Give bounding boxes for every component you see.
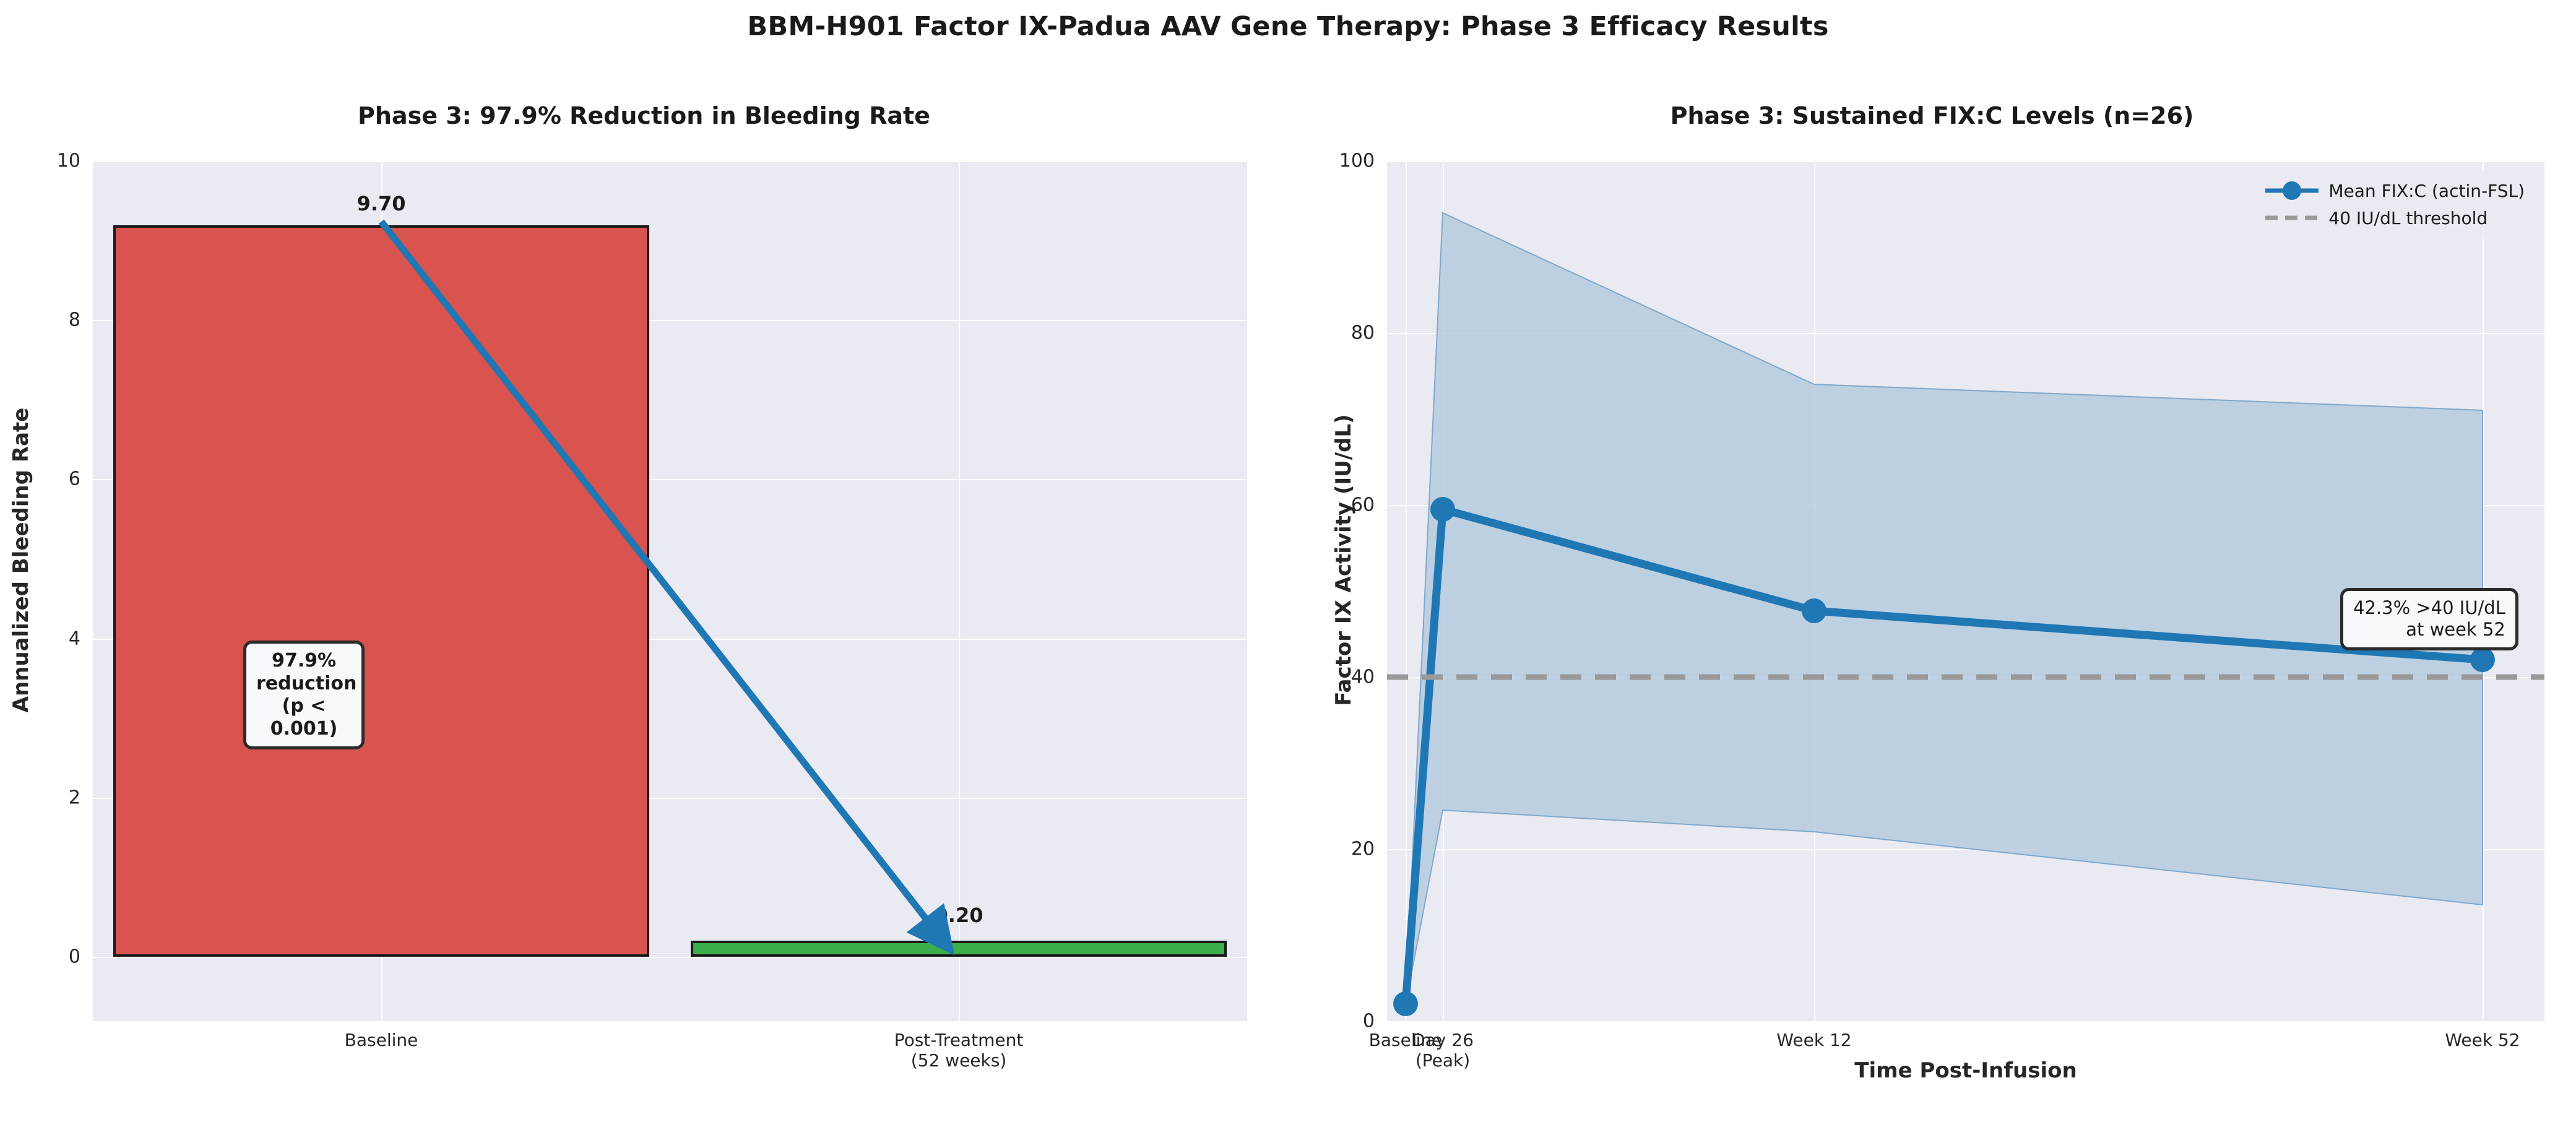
ytick-label-right-80: 80 [1326,322,1375,344]
panel-title-left: Phase 3: 97.9% Reduction in Bleeding Rat… [0,102,1288,129]
xtick-line: Baseline [345,1030,418,1050]
legend-right[interactable]: Mean FIX:C (actin-FSL) 40 IU/dL threshol… [2257,170,2536,239]
data-point-day26 [1430,497,1455,522]
xtick-line: (Peak) [1412,1050,1474,1071]
ytick-label-left-6: 6 [47,468,80,490]
ytick-label-left-10: 10 [38,150,80,172]
xtick-label-day26: Day 26 (Peak) [1412,1030,1474,1071]
xtick-label-baseline: Baseline [345,1030,418,1050]
xtick-label-week52: Week 52 [2445,1030,2520,1050]
legend-entry-threshold[interactable]: 40 IU/dL threshold [2265,204,2525,231]
legend-label: Mean FIX:C (actin-FSL) [2328,181,2525,201]
xtick-line: Post-Treatment [894,1030,1024,1050]
panel-bleeding-rate: Phase 3: 97.9% Reduction in Bleeding Rat… [0,93,1288,1122]
ytick-label-right-20: 20 [1326,839,1375,860]
xtick-label-week12: Week 12 [1776,1030,1851,1050]
ytick-label-left-8: 8 [47,309,80,331]
annotation-reduction: 97.9% reduction (p < 0.001) [243,641,365,749]
ytick-label-right-0: 0 [1339,1011,1375,1032]
legend-entry-mean-fixc[interactable]: Mean FIX:C (actin-FSL) [2265,177,2525,204]
xtick-label-post-treatment: Post-Treatment (52 weeks) [894,1030,1024,1071]
annotation-line: 97.9% [256,650,352,673]
data-point-week52 [2470,647,2495,672]
data-point-baseline [1393,991,1418,1016]
ytick-label-right-60: 60 [1326,494,1375,516]
x-axis-label-right: Time Post-Infusion [1387,1058,2544,1083]
y-axis-label-left: Annualized Bleeding Rate [9,399,33,721]
legend-swatch-dashed-line-icon [2265,209,2319,227]
legend-swatch-line-dot-icon [2265,182,2319,199]
data-point-week12 [1802,598,1826,623]
xtick-line: (52 weeks) [894,1050,1024,1071]
annotation-threshold-percent: 42.3% >40 IU/dL at week 52 [2340,588,2518,650]
figure-canvas: BBM-H901 Factor IX-Padua AAV Gene Therap… [0,0,2576,1122]
annotation-line: (p < 0.001) [256,695,352,740]
xtick-line: Day 26 [1412,1030,1474,1050]
ytick-label-right-100: 100 [1314,150,1375,172]
legend-label: 40 IU/dL threshold [2328,208,2487,228]
annotation-line: reduction [256,673,352,696]
annotation-line: 42.3% >40 IU/dL [2353,597,2505,619]
xtick-line: Week 12 [1776,1030,1851,1050]
panel-title-right: Phase 3: Sustained FIX:C Levels (n=26) [1288,102,2576,129]
ytick-label-left-2: 2 [47,787,80,808]
ytick-label-left-0: 0 [47,946,80,968]
panel-fix-levels: Phase 3: Sustained FIX:C Levels (n=26) F… [1288,93,2576,1122]
plot-area-right: 0 20 40 60 80 100 Baseline Day 26 (Peak)… [1387,161,2544,1021]
annotation-line: at week 52 [2353,619,2505,641]
reduction-arrow [93,161,1247,1021]
ytick-label-left-4: 4 [47,628,80,649]
plot-area-left: 9.70 0.20 0 2 4 6 8 10 Baseline [93,161,1247,1021]
xtick-line: Week 52 [2445,1030,2520,1050]
figure-suptitle: BBM-H901 Factor IX-Padua AAV Gene Therap… [0,11,2576,42]
ytick-label-right-40: 40 [1326,667,1375,688]
confidence-band [1406,213,2483,1004]
